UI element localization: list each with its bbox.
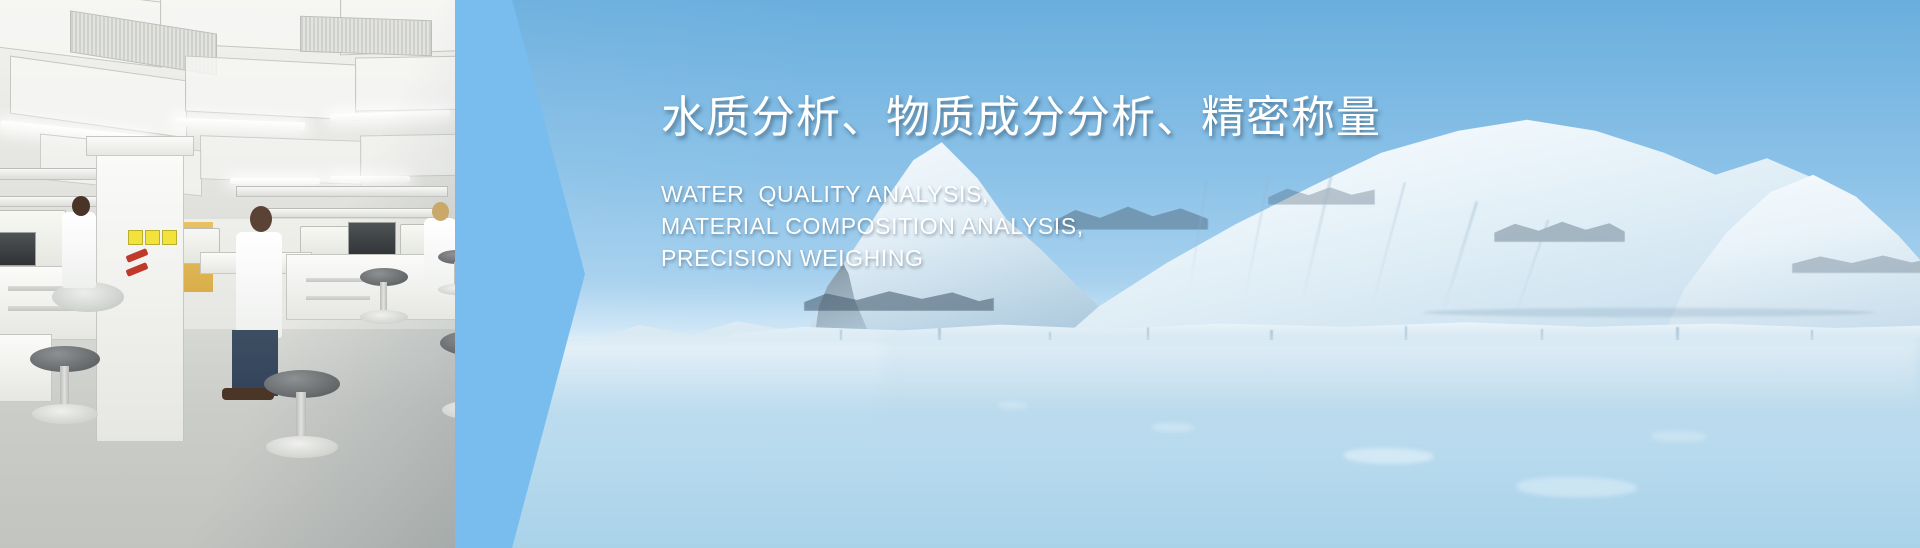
floating-ice — [998, 402, 1028, 409]
subtitle-line-3: PRECISION WEIGHING — [661, 242, 1421, 274]
floating-ice — [1344, 448, 1434, 464]
lab-stool-base — [360, 310, 408, 324]
banner-headline: 水质分析、物质成分分析、精密称量 — [661, 96, 1421, 140]
floating-ice — [1651, 431, 1707, 442]
bench-drawer — [306, 296, 370, 300]
scientist-head — [432, 202, 449, 221]
service-column-top — [86, 136, 194, 156]
hazard-label — [145, 230, 160, 245]
lab-stool-base — [266, 436, 338, 458]
computer-monitor — [0, 232, 36, 266]
mountain-reflection — [883, 344, 1920, 440]
scientist-shoes — [222, 388, 274, 400]
floating-ice — [1152, 423, 1194, 432]
subtitle-line-2: MATERIAL COMPOSITION ANALYSIS, — [661, 210, 1421, 242]
hero-banner: 水质分析、物质成分分析、精密称量 WATER QUALITY ANALYSIS,… — [0, 0, 1920, 548]
scientist-figure — [62, 212, 96, 288]
scientist-figure — [236, 232, 282, 338]
overhead-shelf — [260, 208, 448, 218]
floating-ice — [1517, 477, 1637, 497]
hazard-label — [128, 230, 143, 245]
lab-stool-base — [32, 404, 98, 424]
computer-monitor — [348, 222, 396, 258]
scientist-head — [72, 196, 90, 216]
scientist-head — [250, 206, 272, 232]
subtitle-line-1: WATER QUALITY ANALYSIS, — [661, 178, 1421, 210]
banner-subtitle: WATER QUALITY ANALYSIS, MATERIAL COMPOSI… — [661, 178, 1421, 274]
hazard-label — [162, 230, 177, 245]
banner-copy: 水质分析、物质成分分析、精密称量 WATER QUALITY ANALYSIS,… — [661, 96, 1421, 274]
overhead-shelf — [236, 186, 448, 197]
